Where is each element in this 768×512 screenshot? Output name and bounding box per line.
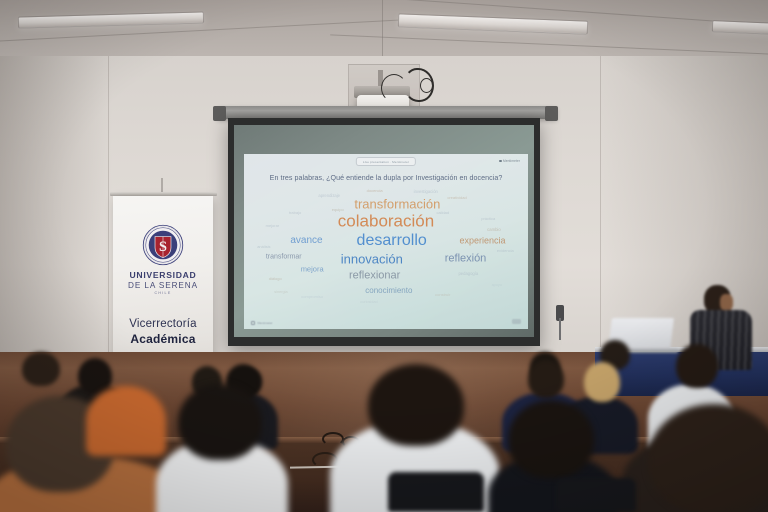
university-crest-icon: S: [142, 224, 184, 266]
projector-cable-loop-small: [420, 78, 433, 93]
slide-footer: Mentimeter: [251, 321, 273, 325]
screen-housing-end-left: [213, 106, 226, 121]
audience-head-mid-5: [78, 358, 112, 394]
floor-cable-loop-1: [322, 432, 344, 446]
slide-response-badge: [512, 319, 521, 324]
wall-seam-right: [600, 56, 601, 356]
wall-seam-left: [108, 56, 109, 356]
banner-university-line2: DE LA SERENA: [113, 281, 213, 290]
chair-front-center: [388, 472, 484, 512]
word-cloud: colaboracióndesarrollotransformacióninno…: [244, 186, 528, 308]
word-cloud-term: mejora: [301, 265, 324, 273]
slide-brand-label: Mentimeter: [503, 159, 520, 163]
menti-footer-icon: [251, 321, 255, 325]
word-cloud-term: desarrollo: [357, 233, 427, 249]
word-cloud-term: cambio: [487, 228, 501, 232]
wall-speaker-cable: [559, 318, 561, 340]
slide-footer-label: Mentimeter: [258, 321, 273, 325]
word-cloud-term: docencia: [367, 189, 383, 193]
word-cloud-term: mejorar: [266, 224, 280, 228]
audience-head-front-dark-suit: [508, 400, 594, 478]
banner-university-line1: UNIVERSIDAD: [113, 270, 213, 280]
audience-head-mid-3: [676, 344, 718, 388]
wall-shadow-left: [0, 56, 112, 356]
audience-head-front-white-shirt: [368, 364, 464, 446]
presenter-face: [720, 294, 733, 311]
word-cloud-term: diálogo: [269, 277, 282, 281]
audience-body-orange-jacket: [86, 386, 166, 456]
word-cloud-term: apoyo: [492, 284, 502, 288]
word-cloud-term: equipo: [332, 208, 344, 212]
audience-head-front-midleft: [178, 384, 262, 460]
mentimeter-logo-icon: [499, 160, 502, 163]
slide-header: Live presentation · Mentimeter Mentimete…: [244, 154, 528, 169]
word-cloud-term: transformación: [354, 198, 440, 211]
word-cloud-term: sinergia: [274, 291, 287, 295]
university-rollup-banner: S UNIVERSIDAD DE LA SERENA CHILE Vicerre…: [113, 196, 213, 372]
word-cloud-term: evidencia: [497, 249, 514, 253]
word-cloud-term: avance: [290, 236, 322, 246]
audience-head-mid-6: [22, 352, 60, 386]
banner-university-line3: CHILE: [113, 291, 213, 295]
projector-cable-bend: [381, 74, 407, 102]
audience-head-mid-2: [584, 362, 620, 402]
word-cloud-term: transformar: [266, 253, 302, 260]
word-cloud-term: conocimiento: [365, 287, 412, 295]
word-cloud-term: análisis: [257, 245, 270, 249]
word-cloud-term: pedagogía: [458, 272, 478, 276]
conference-room-photo: Live presentation · Mentimeter Mentimete…: [0, 0, 768, 512]
word-cloud-term: creatividad: [447, 196, 466, 200]
audience-head-front-right-long-hair: [648, 404, 768, 512]
slide-question: En tres palabras, ¿Qué entiende la dupla…: [244, 174, 528, 182]
chair-front-right: [556, 478, 636, 512]
word-cloud-term: construir: [435, 293, 450, 297]
word-cloud-term: experiencia: [460, 236, 506, 245]
word-cloud-term: curiosidad: [360, 301, 377, 305]
audience-head-mid-1: [528, 360, 564, 398]
screen-surface: Live presentation · Mentimeter Mentimete…: [234, 125, 534, 337]
word-cloud-term: investigación: [414, 190, 438, 194]
word-cloud-term: compromiso: [301, 295, 323, 299]
word-cloud-term: aprendizaje: [318, 194, 340, 198]
word-cloud-term: innovación: [341, 253, 403, 266]
word-cloud-term: colaboración: [338, 213, 434, 230]
banner-unit-line2: Académica: [113, 332, 213, 346]
banner-unit-line1: Vicerrectoría: [113, 318, 213, 330]
word-cloud-term: reflexionar: [349, 271, 400, 282]
projected-slide: Live presentation · Mentimeter Mentimete…: [244, 154, 528, 329]
word-cloud-term: reflexión: [445, 254, 487, 265]
slide-brand: Mentimeter: [499, 159, 520, 163]
word-cloud-term: práctica: [481, 217, 495, 221]
screen-housing-end-right: [545, 106, 558, 121]
projection-screen: Live presentation · Mentimeter Mentimete…: [228, 118, 540, 346]
svg-text:S: S: [159, 239, 167, 255]
word-cloud-term: trabajo: [289, 211, 301, 215]
slide-header-pill: Live presentation · Mentimeter: [356, 157, 416, 166]
ceiling-seam-vertical: [382, 0, 383, 58]
word-cloud-term: calidad: [436, 211, 449, 215]
